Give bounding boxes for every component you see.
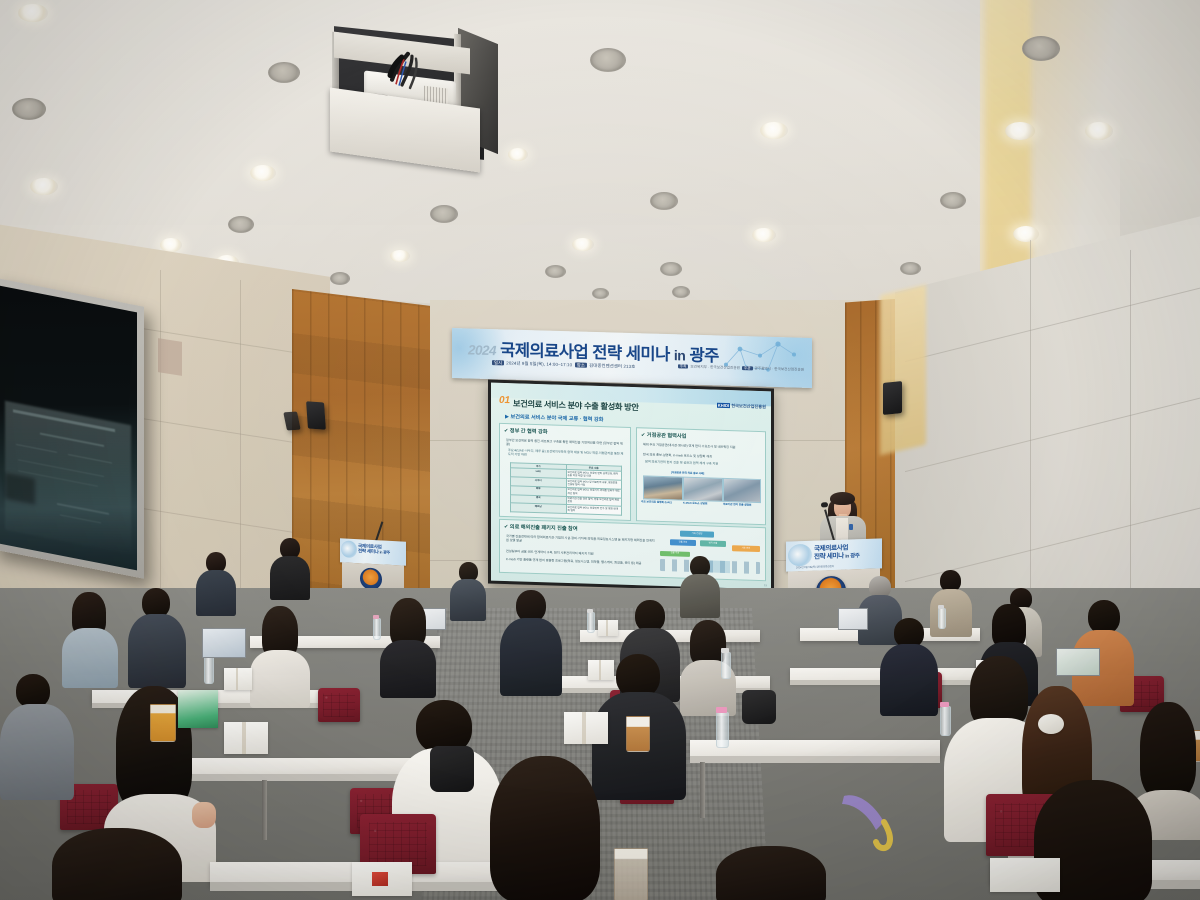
attendee (128, 588, 186, 688)
slide-table: 국가 주요 내용 UAE 보건의료 협력 MOU, 의료인 면허 상호인정, 환… (510, 462, 622, 515)
diagram-node-1: 기획·컨설팅 (680, 531, 714, 538)
attendee-hand (192, 802, 216, 828)
podium-secondary-sign-text: 국제의료사업 전략 세미나 in 광주 (358, 543, 390, 556)
slide-box-bottom: ✔ 의료 해외진출 패키지 진출 참여 국가별 진출전략에 따라 참여의료기관·… (499, 519, 766, 581)
downlight-on (760, 122, 788, 139)
attendee-torso (0, 704, 74, 800)
slide-photo-3 (723, 478, 761, 503)
banner-place: 김대중컨벤션센터 213호 (589, 363, 635, 369)
bottle-cap (938, 605, 944, 609)
podium-sign-in: in (845, 553, 849, 559)
table-leg (262, 780, 267, 840)
laptop (836, 608, 866, 630)
downlight-on (508, 148, 528, 161)
water-bottle (716, 712, 729, 748)
projection-screen: 01 보건의료 서비스 분야 수출 활성화 방안 KHIDI 한국보건산업진흥원… (488, 380, 774, 593)
banner-year: 2024 (468, 342, 496, 358)
laptop-screen (202, 628, 246, 658)
attendee-hair (52, 828, 182, 900)
slide-photo-label-3: 의료기관 현지 진출 설명회 (723, 502, 761, 507)
podium-sign-line2: 전략 세미나 (814, 552, 844, 560)
slide-box-right-heading: ✔ 거점공관 협력사업 (641, 431, 686, 439)
khidi-logo: KHIDI 한국보건산업진흥원 (717, 403, 766, 411)
slide-section-number: 01 (499, 395, 510, 406)
downlight-on (18, 4, 48, 22)
seminar-room-photo: 2024 국제의료사업 전략 세미나 in 광주 일시2024년 9월 5일(목… (0, 0, 1200, 900)
bottle-cap (716, 707, 727, 713)
bottle-cap (587, 609, 593, 613)
downlight-off (900, 262, 921, 275)
downlight-on (390, 250, 410, 262)
attendee-torso (196, 570, 236, 616)
attendee (0, 674, 74, 800)
banner-tag-place: 장소 (575, 362, 587, 367)
wall-warm-glow (880, 285, 926, 456)
water-bottle (721, 652, 731, 679)
downlight-off (940, 192, 966, 209)
podium-secondary-sign-graphic (341, 540, 357, 558)
attendee (380, 600, 436, 696)
downlight-off (430, 205, 458, 223)
downlight-off (660, 262, 682, 276)
table-edge (690, 756, 940, 763)
slide-photo-label-1: 주요 보건의료 설명회 (UAE) (641, 499, 683, 504)
gift-box (224, 668, 252, 690)
wall-speaker-left (306, 401, 326, 429)
banner-date: 2024년 9월 5일(목), 14:00~17:10 (506, 360, 572, 367)
slide-photo-2 (683, 477, 723, 502)
iced-coffee-cup (150, 704, 176, 742)
table-leg (700, 762, 705, 818)
downlight-off (1022, 36, 1060, 61)
banner-city: 광주 (689, 347, 718, 366)
khidi-logo-mark: KHIDI (717, 403, 730, 408)
podium-secondary-city: 광주 (383, 550, 390, 555)
iced-coffee-cup (614, 848, 648, 900)
diagram-node-2: 진출 준비 (670, 539, 696, 546)
downlight-off (228, 216, 254, 233)
attendee-head (16, 674, 50, 708)
attendee-torso (250, 650, 310, 708)
attendee (270, 538, 310, 598)
podium-secondary-line2: 전략 세미나 (358, 548, 379, 554)
attendee-torso (680, 574, 720, 618)
paper-bag (178, 690, 218, 728)
attendee-torso (500, 618, 562, 696)
laptop (200, 628, 244, 658)
attendee (62, 594, 118, 686)
banner-org-names: 광주광역시 · 한국보건산업진흥원 (755, 366, 804, 371)
podium-sign-text: 국제의료사업 전략 세미나 in 광주 (814, 544, 859, 561)
attendee (250, 608, 310, 706)
attendee (706, 846, 836, 900)
wall-display-screen (0, 286, 137, 571)
microphone-head (821, 502, 828, 507)
wall-accent-block (158, 338, 182, 376)
panel-seam (240, 280, 241, 610)
downlight-off (592, 288, 609, 299)
attendee (196, 552, 236, 614)
umbrella (840, 790, 906, 852)
document-logo-mark (372, 872, 388, 886)
water-bottle (938, 608, 946, 629)
slide-box-right-bullet-3: 참여 의료기관의 현지 진출 및 공관과 협력 체계 구축 지원 (645, 459, 761, 467)
downlight-on (1013, 226, 1039, 242)
downlight-off (330, 272, 350, 285)
attendee-head (1088, 600, 1120, 634)
slide-page-number: 15 (764, 584, 767, 587)
hair-scrunchie (1038, 714, 1064, 734)
downlight-off (672, 286, 690, 298)
banner-tag-host: 주최 (678, 364, 689, 368)
slide-subheading: ▶ 보건의료 서비스 분야 국제 교류 · 협력 강화 (505, 413, 603, 423)
downlight-on (1005, 122, 1035, 140)
slide-box-right-bullet-1: 해외 주요 거점공관(대사관·영사관) 연계 현지 수요조사 및 네트워킹 지원 (643, 442, 761, 450)
presenter-hair (830, 492, 855, 505)
podium-sign-graphic (788, 544, 812, 567)
banner-in-word: in (674, 347, 685, 363)
bottle-cap (373, 615, 379, 619)
gift-box (598, 620, 618, 636)
downlight-off (650, 192, 678, 210)
wall-speaker-right (883, 381, 902, 415)
slide-box-bottom-heading: ✔ 의료 해외진출 패키지 진출 참여 (504, 523, 578, 532)
slide-subheading-text: 보건의료 서비스 분야 국제 교류 · 협력 강화 (510, 414, 603, 423)
water-bottle (587, 612, 595, 633)
korea-government-emblem-icon (360, 567, 382, 590)
downlight-on (1085, 122, 1113, 140)
attendee (40, 828, 200, 900)
attendee-torso (270, 556, 310, 600)
slide-box-left-heading: ✔ 정부 간 협력 강화 (504, 427, 548, 435)
banner-tag-org: 주관 (742, 366, 753, 370)
slide-photo-caption: [거점공관 한국 의료 홍보 사례] (671, 470, 704, 475)
podium-secondary-sign: 국제의료사업 전략 세미나 in 광주 (340, 538, 406, 565)
podium-sign-subtext: 2024년 9월 5일(목) 김대중컨벤션센터 (796, 564, 834, 569)
downlight-off (12, 98, 46, 120)
downlight-off (268, 62, 300, 83)
attendee-torso (880, 644, 938, 716)
water-bottle (204, 656, 214, 684)
panel-seam (160, 270, 161, 600)
downlight-on (250, 165, 276, 181)
attendee-torso (380, 640, 436, 698)
slide-box-right: ✔ 거점공관 협력사업 해외 주요 거점공관(대사관·영사관) 연계 현지 수요… (636, 427, 766, 525)
table-cell-desc: 보건의료 협력 MOU, 의료인력 연수 및 병원 현대화 협력 (566, 505, 622, 515)
attendee-torso (450, 579, 486, 621)
podium-sign-city: 광주 (850, 553, 859, 559)
bottle-cap (721, 648, 729, 653)
downlight-on (30, 178, 58, 195)
downlight-on (752, 228, 776, 242)
chair[interactable] (318, 688, 360, 722)
attendee (460, 756, 616, 900)
podium-sign: 국제의료사업 전략 세미나 in 광주 2024년 9월 5일(목) 김대중컨벤… (786, 538, 882, 571)
khidi-logo-text: 한국보건산업진흥원 (731, 403, 766, 409)
presentation-slide: 01 보건의료 서비스 분야 수출 활성화 방안 KHIDI 한국보건산업진흥원… (491, 383, 771, 590)
slide-title: 보건의료 서비스 분야 수출 활성화 방안 (513, 397, 639, 413)
backpack (430, 746, 474, 792)
paper-document (990, 858, 1060, 892)
attendee-torso (128, 614, 186, 688)
downlight-off (590, 48, 626, 72)
laptop (1054, 648, 1098, 676)
banner-tag-date: 일시 (492, 360, 504, 365)
gift-box (564, 712, 608, 744)
event-banner: 2024 국제의료사업 전략 세미나 in 광주 일시2024년 9월 5일(목… (452, 328, 812, 388)
gift-box (224, 722, 268, 754)
laptop-screen (1056, 648, 1100, 676)
downlight-on (572, 238, 594, 251)
diagram-node-3: 현지 진출 (700, 540, 726, 547)
laptop-screen (838, 608, 868, 630)
wall-display-left[interactable] (0, 277, 144, 579)
attendee (680, 556, 720, 616)
slide-box-bottom-bullet-3: K-medi 기반 플랫폼 연계 현지 맞춤형 프로그램(의료, 정보시스템, … (506, 557, 656, 566)
podium-secondary-in: in (380, 551, 383, 555)
attendee-hair (716, 846, 826, 900)
table-cell-country: 베트남 (511, 503, 567, 513)
ceiling-projector-lift (330, 30, 510, 162)
diagram-node-4: 사후 관리 (732, 545, 760, 552)
attendee (880, 618, 938, 714)
attendee (450, 562, 486, 618)
attendee-hair (490, 756, 600, 900)
backpack (742, 690, 776, 724)
slide-box-bottom-bullet-1: 국가별 진출전략에 따라 참여의료기관·기업의 시설·장비·기자재·의약품·의료… (506, 534, 656, 548)
slide-photo-1 (643, 475, 683, 500)
downlight-off (545, 265, 566, 278)
iced-coffee-cup (626, 716, 650, 752)
attendee (500, 590, 562, 694)
slide-photo-label-2: K-Medi 로드쇼 상담회 (683, 501, 723, 506)
presenter-badge (849, 524, 853, 530)
slide-box-left: ✔ 정부 간 협력 강화 정부간 보건의료 협력 증진·네트워크 구축을 통한 … (499, 423, 631, 521)
banner-host-names: 보건복지부 · 한국보건산업진흥원 (690, 365, 739, 370)
